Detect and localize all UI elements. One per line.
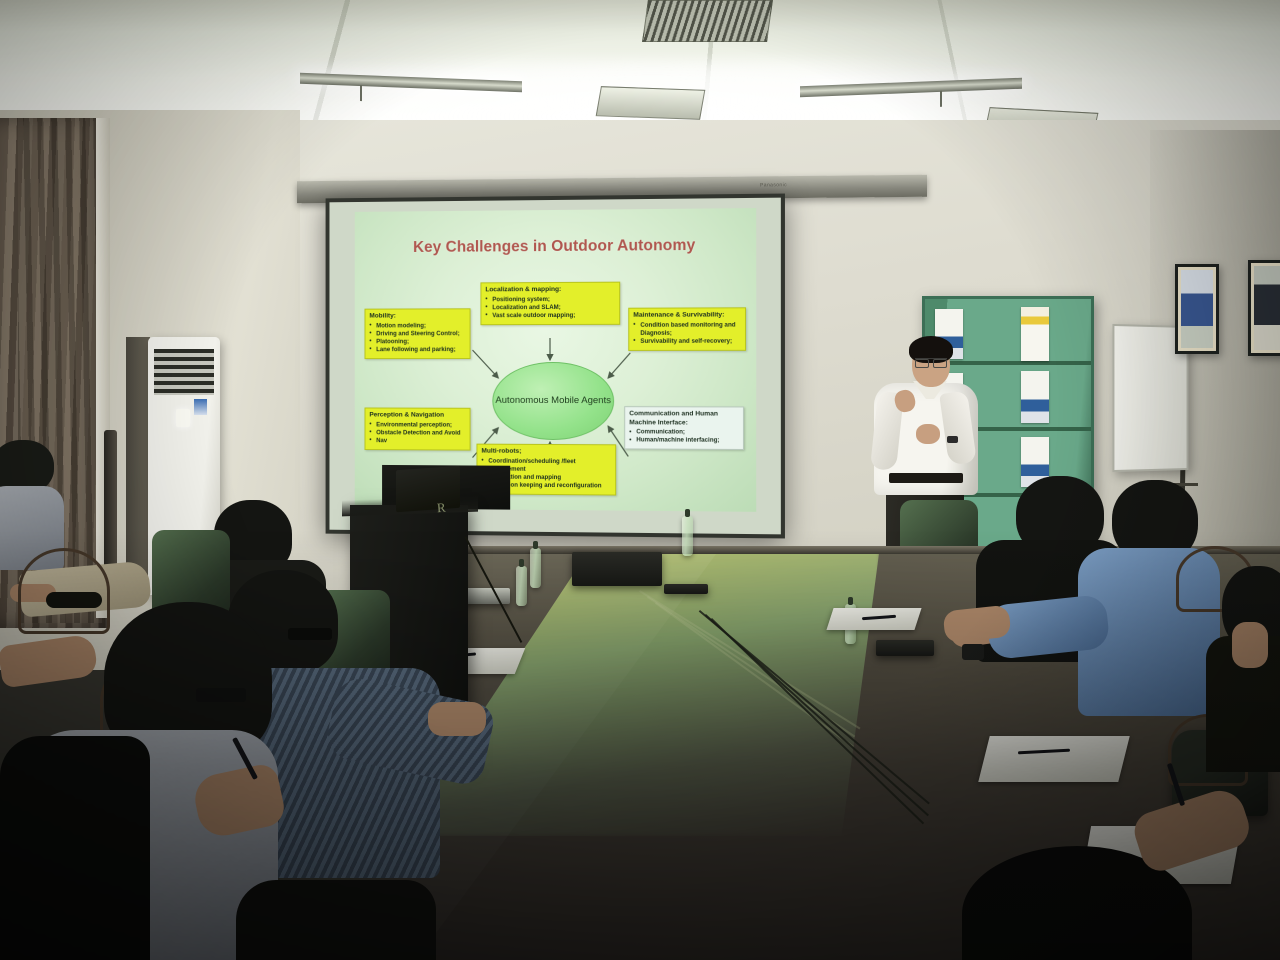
brochure-display: [1021, 371, 1049, 423]
box-header: Communication and Human Machine Interfac…: [629, 410, 739, 428]
box-item: Nav: [369, 437, 465, 445]
framed-photograph: [1175, 264, 1219, 354]
table-equipment-box: [572, 552, 662, 586]
air-conditioner-side: [126, 337, 150, 595]
box-item: Human/machine interfacing;: [629, 437, 739, 446]
water-bottle: [516, 566, 527, 606]
notepad: [978, 736, 1129, 782]
water-bottle: [682, 516, 693, 556]
attendee-glasses: [288, 628, 332, 640]
projector-screen: Key Challenges in Outdoor Autonomy Auton…: [326, 194, 785, 539]
box-item: Condition based monitoring and Diagnosis…: [633, 321, 741, 337]
wristwatch: [962, 644, 984, 660]
center-node-autonomous-mobile-agents: Autonomous Mobile Agents: [492, 362, 614, 440]
air-conditioner-display: [176, 409, 190, 427]
foreground-shadow-mass: [0, 736, 150, 960]
box-item: Lane following and parking;: [369, 346, 465, 354]
box-header: Localization & mapping:: [485, 286, 615, 295]
attendee-glasses: [196, 688, 246, 702]
presentation-slide: Key Challenges in Outdoor Autonomy Auton…: [355, 208, 756, 512]
bentwood-chair: [18, 548, 110, 634]
box-list: Condition based monitoring and Diagnosis…: [633, 321, 741, 346]
screen-brand-label: Panasonic: [760, 182, 787, 188]
air-conditioner-grille: [154, 349, 214, 395]
ceiling-air-vent: [642, 0, 773, 42]
box-item: Survivability and self-recovery;: [633, 337, 741, 345]
box-list: Motion modeling; Driving and Steering Co…: [369, 322, 465, 354]
box-header: Multi-robots;: [481, 448, 611, 457]
box-item: Driving and Steering Control;: [369, 330, 465, 338]
presenter-glasses: [915, 358, 947, 365]
air-conditioner-pipe: [104, 430, 117, 580]
framed-photograph: [1248, 260, 1280, 356]
table-device: [876, 640, 934, 656]
box-list: Positioning system; Localization and SLA…: [485, 295, 615, 320]
table-device: [664, 584, 708, 594]
attendee-hand: [1232, 622, 1268, 668]
water-bottle: [530, 548, 541, 588]
box-header: Maintenance & Survivability:: [633, 311, 741, 320]
brochure-display: [1021, 307, 1049, 361]
box-header: Perception & Navigation: [369, 411, 465, 420]
ceiling-air-vent: [596, 86, 706, 120]
box-item: Platooning;: [369, 338, 465, 346]
box-list: Environmental perception; Obstacle Detec…: [369, 421, 465, 445]
presenter-right-hand: [916, 424, 940, 444]
foreground-chair-back: [236, 880, 436, 960]
box-item: Motion modeling;: [369, 322, 465, 330]
box-item: Vast scale outdoor mapping;: [485, 312, 615, 320]
slide-box-communication-hmi: Communication and Human Machine Interfac…: [624, 406, 744, 450]
laptop: [396, 466, 460, 512]
conference-room-photo: Panasonic Key Challenges in Outdoor Auto…: [0, 0, 1280, 960]
podium-logo: R: [436, 500, 446, 517]
energy-label: [194, 399, 207, 415]
slide-box-perception-navigation: Perception & Navigation Environmental pe…: [365, 408, 471, 451]
slide-box-maintenance-survivability: Maintenance & Survivability: Condition b…: [628, 307, 746, 350]
attendee-hand: [428, 702, 486, 736]
slide-box-localization-mapping: Localization & mapping: Positioning syst…: [480, 282, 620, 325]
box-list: Communication; Human/machine interfacing…: [629, 429, 739, 446]
slide-box-mobility: Mobility: Motion modeling; Driving and S…: [365, 308, 471, 359]
presenter-belt: [889, 473, 963, 483]
presenter-wristwatch: [947, 436, 958, 443]
center-node-label: Autonomous Mobile Agents: [495, 395, 610, 407]
box-header: Mobility:: [369, 312, 465, 321]
